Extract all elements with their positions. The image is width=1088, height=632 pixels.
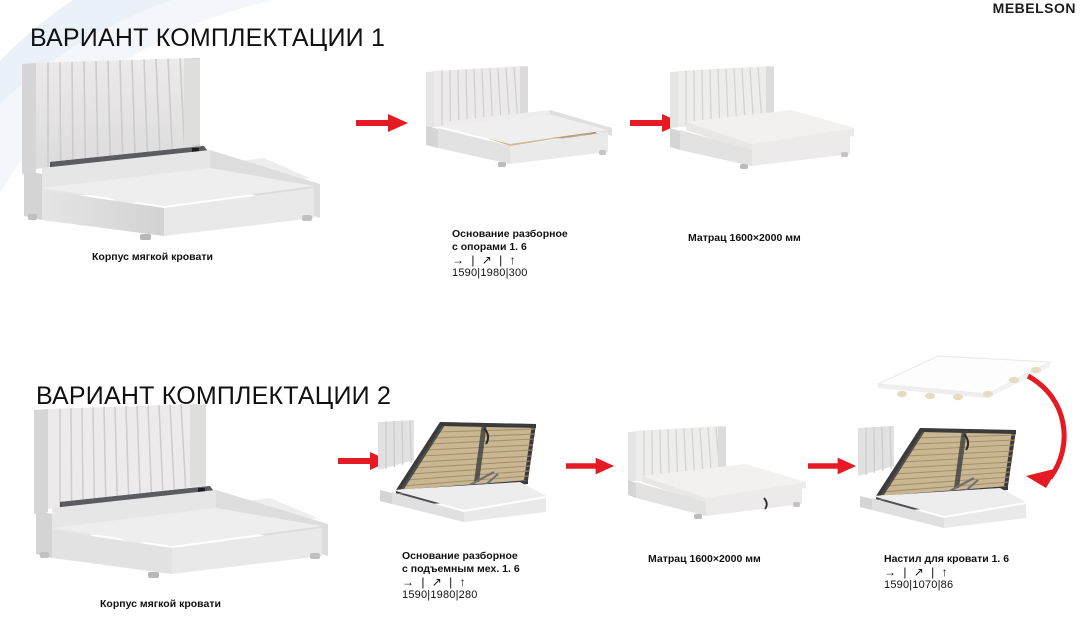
caption-base-lift-v2: Основание разборное с подъемным мех. 1. …	[402, 550, 520, 602]
dimension-axis-icons: → | ↗ | ↑	[884, 566, 1009, 579]
dimension-values: 1590|1980|280	[402, 589, 520, 602]
dimension-axis-icons: → | ↗ | ↑	[402, 576, 520, 589]
caption-line-1: Матрац 1600×2000 мм	[688, 232, 801, 245]
assembly-variants-page: MEBELSON ВАРИАНТ КОМПЛЕКТАЦИИ 1	[0, 0, 1088, 632]
caption-line-1: Корпус мягкой кровати	[100, 598, 221, 611]
bed-with-mattress-v1	[664, 58, 864, 178]
caption-line-1: Корпус мягкой кровати	[92, 251, 213, 264]
dimension-axis-icons: → | ↗ | ↑	[452, 254, 568, 267]
caption-frame-v2: Корпус мягкой кровати	[100, 598, 221, 611]
dimension-values: 1590|1070|86	[884, 579, 1009, 592]
section-title-variant-1: ВАРИАНТ КОМПЛЕКТАЦИИ 1	[30, 24, 385, 53]
caption-base-legs-v1: Основание разборное с опорами 1. 6 → | ↗…	[452, 228, 568, 280]
caption-deck-v2: Настил для кровати 1. 6 → | ↗ | ↑ 1590|1…	[884, 553, 1009, 592]
bed-with-lift-mechanism-right-v2	[858, 400, 1048, 530]
caption-line-1: Основание разборное	[402, 550, 520, 563]
bed-frame-open-large-v1	[14, 50, 334, 245]
caption-line-1: Матрац 1600×2000 мм	[648, 553, 761, 566]
bed-frame-open-large-v2	[26, 398, 346, 578]
caption-frame-v1: Корпус мягкой кровати	[92, 251, 213, 264]
arrow-right-icon-5	[808, 455, 858, 477]
caption-line-1: Основание разборное	[452, 228, 568, 241]
caption-mattress-v1: Матрац 1600×2000 мм	[688, 232, 801, 245]
dimension-values: 1590|1980|300	[452, 267, 568, 280]
bed-with-slat-base-v1	[424, 58, 624, 178]
arrow-right-icon-1	[356, 112, 410, 134]
caption-mattress-v2: Матрац 1600×2000 мм	[648, 553, 761, 566]
bed-with-mattress-v2	[624, 400, 814, 520]
arrow-right-icon-4	[566, 455, 616, 477]
bed-with-lift-mechanism-v2	[378, 394, 563, 524]
brand-logo: MEBELSON	[993, 0, 1076, 16]
